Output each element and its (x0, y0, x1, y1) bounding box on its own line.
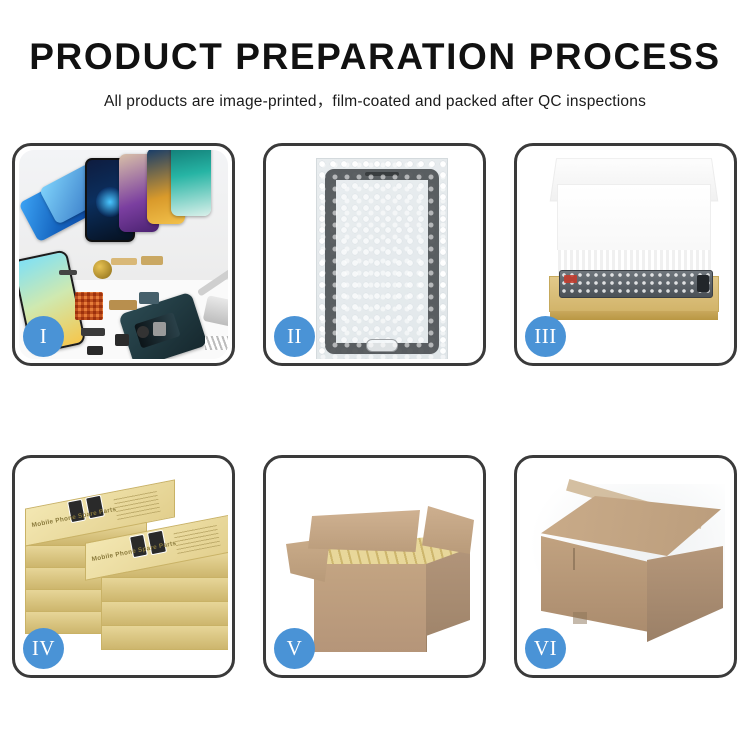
page-title: PRODUCT PREPARATION PROCESS (0, 38, 750, 75)
phone-screen-teal (171, 150, 211, 216)
steps-grid: I II (0, 143, 750, 683)
carton-handle-slot (573, 612, 587, 624)
step-frame: I (12, 143, 235, 366)
step-card-2: II (263, 143, 486, 366)
product-preparation-infographic: PRODUCT PREPARATION PROCESS All products… (0, 0, 750, 750)
flex-cable-part (139, 292, 159, 304)
step-badge-5: V (274, 628, 315, 669)
small-part (59, 270, 77, 275)
wrapped-screen-in-box (559, 270, 713, 298)
step-badge-1: I (23, 316, 64, 357)
small-part (153, 322, 166, 336)
page-subtitle: All products are image-printed，film-coat… (0, 89, 750, 111)
carton-seam (573, 548, 575, 570)
step-card-5: V (263, 455, 486, 678)
box-side (101, 600, 228, 626)
flex-cable-part (81, 328, 105, 336)
phone-screen-glass (325, 169, 439, 354)
flex-cable-part (111, 258, 137, 265)
screws-group (205, 336, 228, 350)
small-part (137, 326, 149, 338)
box-side (101, 576, 228, 602)
small-part (87, 346, 103, 355)
step-frame: II (263, 143, 486, 366)
chip-grid-part (75, 292, 103, 320)
header: PRODUCT PREPARATION PROCESS All products… (0, 0, 750, 111)
box-side (101, 624, 228, 650)
step-card-4: Mobile Phone Spare Parts Mobile Phone Sp… (12, 455, 235, 678)
step-frame: V (263, 455, 486, 678)
step-card-6: VI (514, 455, 737, 678)
step-card-3: III (514, 143, 737, 366)
step-card-1: I (12, 143, 235, 366)
carton-flap-back (308, 510, 420, 552)
step-frame: Mobile Phone Spare Parts Mobile Phone Sp… (12, 455, 235, 678)
carton-front-face (314, 564, 427, 652)
repair-tool (203, 295, 228, 327)
small-part (115, 334, 129, 346)
flex-cable-part (141, 256, 163, 265)
step-badge-2: II (274, 316, 315, 357)
step-badge-4: IV (23, 628, 64, 669)
step-frame: VI (514, 455, 737, 678)
step-badge-3: III (525, 316, 566, 357)
flex-cable-part (109, 300, 137, 310)
step-frame: III (514, 143, 737, 366)
copper-coil-part (93, 260, 112, 279)
bubble-wrap-sheet (316, 158, 448, 359)
step-badge-6: VI (525, 628, 566, 669)
